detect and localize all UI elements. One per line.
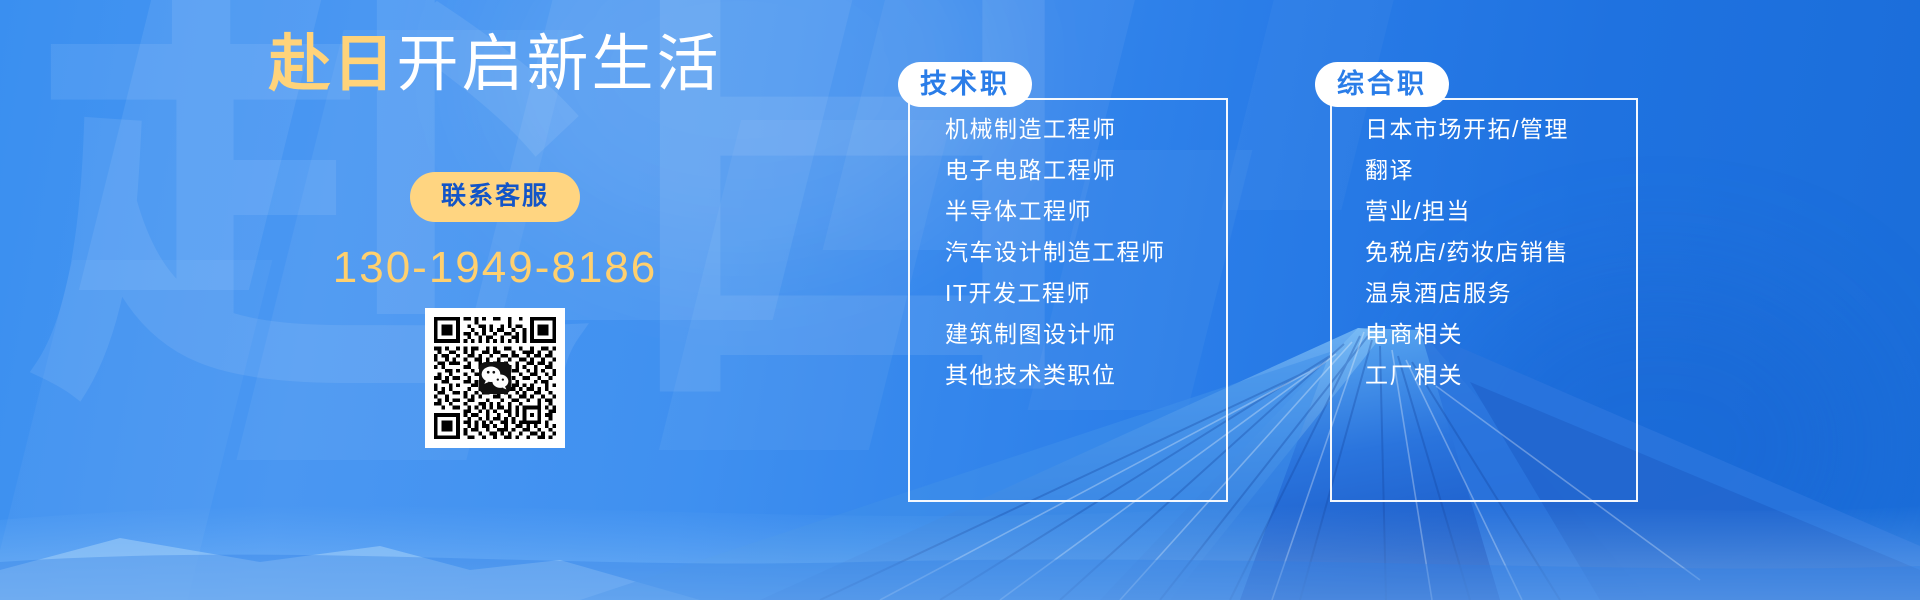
job-list-general: 日本市场开拓/管理 翻译 营业/担当 免税店/药妆店销售 温泉酒店服务 电商相关… xyxy=(1365,118,1569,405)
list-item[interactable]: 日本市场开拓/管理 xyxy=(1365,118,1569,141)
list-item[interactable]: 翻译 xyxy=(1365,159,1569,182)
panel-badge-general[interactable]: 综合职 xyxy=(1315,62,1449,107)
phone-number[interactable]: 130-1949-8186 xyxy=(175,244,815,292)
promo-banner: 赴日 xyxy=(0,0,1920,600)
cta-row: 联系客服 xyxy=(175,172,815,222)
contact-support-button[interactable]: 联系客服 xyxy=(410,172,580,222)
qr-row xyxy=(175,308,815,448)
list-item[interactable]: 免税店/药妆店销售 xyxy=(1365,241,1569,264)
headline-plain-text: 开启新生活 xyxy=(397,30,722,99)
wechat-qr-code[interactable] xyxy=(425,308,565,448)
panel-badge-technical[interactable]: 技术职 xyxy=(898,62,1032,107)
contact-column: 赴日开启新生活 联系客服 130-1949-8186 xyxy=(175,34,815,448)
list-item[interactable]: 营业/担当 xyxy=(1365,200,1569,223)
list-item[interactable]: 机械制造工程师 xyxy=(945,118,1166,141)
page-title: 赴日开启新生活 xyxy=(175,34,815,96)
wechat-logo-icon xyxy=(479,362,511,394)
list-item[interactable]: 温泉酒店服务 xyxy=(1365,282,1569,305)
job-list-technical: 机械制造工程师 电子电路工程师 半导体工程师 汽车设计制造工程师 IT开发工程师… xyxy=(945,118,1166,405)
list-item[interactable]: 建筑制图设计师 xyxy=(945,323,1166,346)
list-item[interactable]: 汽车设计制造工程师 xyxy=(945,241,1166,264)
list-item[interactable]: 工厂相关 xyxy=(1365,364,1569,387)
list-item[interactable]: 电商相关 xyxy=(1365,323,1569,346)
list-item[interactable]: IT开发工程师 xyxy=(945,282,1166,305)
list-item[interactable]: 半导体工程师 xyxy=(945,200,1166,223)
list-item[interactable]: 其他技术类职位 xyxy=(945,364,1166,387)
headline-accent-text: 赴日 xyxy=(268,30,396,99)
list-item[interactable]: 电子电路工程师 xyxy=(945,159,1166,182)
